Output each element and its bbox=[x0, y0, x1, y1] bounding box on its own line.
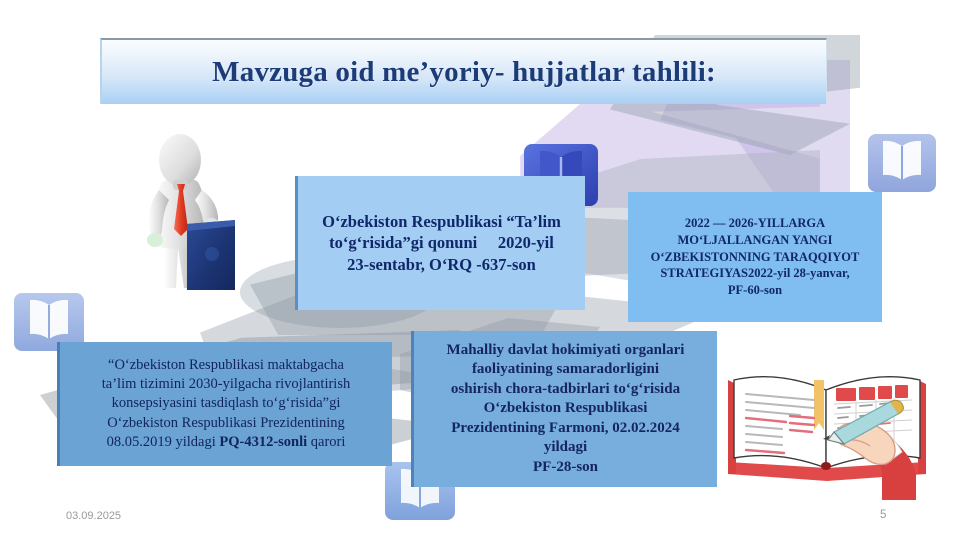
law-line-2: to‘g‘risida”gi qonuni 2020-yil bbox=[322, 232, 561, 253]
strategy-textbox: 2022 — 2026-YILLARGA MO‘LJALLANGAN YANGI… bbox=[628, 192, 882, 322]
law-line-3: 23-sentabr, O‘RQ -637-son bbox=[322, 254, 561, 275]
decree-line-1: Mahalliy davlat hokimiyati organlari bbox=[447, 341, 685, 361]
concept-line-3: konsepsiyasini tasdiqlash to‘g‘risida”gi bbox=[102, 394, 350, 413]
decree-line-2: faoliyatining samaradorligini bbox=[447, 360, 685, 380]
strategy-line-1: 2022 — 2026-YILLARGA bbox=[651, 215, 860, 232]
businessman-illustration bbox=[132, 132, 240, 295]
open-book-icon bbox=[866, 128, 938, 199]
decree-line-3: oshirish chora-tadbirlari to‘g‘risida bbox=[447, 380, 685, 400]
concept-line-5-suffix: qarori bbox=[307, 434, 345, 450]
concept-line-1: “O‘zbekiston Respublikasi maktabgacha bbox=[102, 356, 350, 375]
law-textbox: O‘zbekiston Respublikasi “Ta’lim to‘g‘ri… bbox=[295, 176, 585, 310]
concept-line-4: O‘zbekiston Respublikasi Prezidentining bbox=[102, 414, 350, 433]
concept-textbox: “O‘zbekiston Respublikasi maktabgacha ta… bbox=[57, 342, 392, 466]
page-title: Mavzuga oid me’yoriy- hujjatlar tahlili: bbox=[212, 56, 716, 89]
decree-line-4: O‘zbekiston Respublikasi bbox=[447, 399, 685, 419]
presentation-slide: Mavzuga oid me’yoriy- hujjatlar tahlili: bbox=[0, 0, 961, 540]
concept-decree-number: PQ-4312-sonli bbox=[219, 434, 307, 450]
concept-line-2: ta’lim tizimini 2030-yilgacha rivojlanti… bbox=[102, 375, 350, 394]
concept-line-5: 08.05.2019 yildagi PQ-4312-sonli qarori bbox=[102, 433, 350, 452]
strategy-line-2: MO‘LJALLANGAN YANGI bbox=[651, 232, 860, 249]
hand-writing-illustration bbox=[722, 340, 940, 505]
concept-line-5-prefix: 08.05.2019 yildagi bbox=[107, 434, 220, 450]
decree-textbox: Mahalliy davlat hokimiyati organlari fao… bbox=[411, 331, 717, 487]
slide-page-number: 5 bbox=[880, 509, 886, 521]
slide-date: 03.09.2025 bbox=[66, 510, 121, 522]
slide-title-bar: Mavzuga oid me’yoriy- hujjatlar tahlili: bbox=[100, 38, 827, 104]
strategy-line-5: PF-60-son bbox=[651, 282, 860, 299]
strategy-line-4: STRATEGIYAS2022-yil 28-yanvar, bbox=[651, 265, 860, 282]
law-line-1: O‘zbekiston Respublikasi “Ta’lim bbox=[322, 211, 561, 232]
decree-line-7: PF-28-son bbox=[447, 458, 685, 478]
decree-line-5: Prezidentining Farmoni, 02.02.2024 bbox=[447, 419, 685, 439]
strategy-line-3: O‘ZBEKISTONNING TARAQQIYOT bbox=[651, 249, 860, 266]
decree-line-6: yildagi bbox=[447, 438, 685, 458]
